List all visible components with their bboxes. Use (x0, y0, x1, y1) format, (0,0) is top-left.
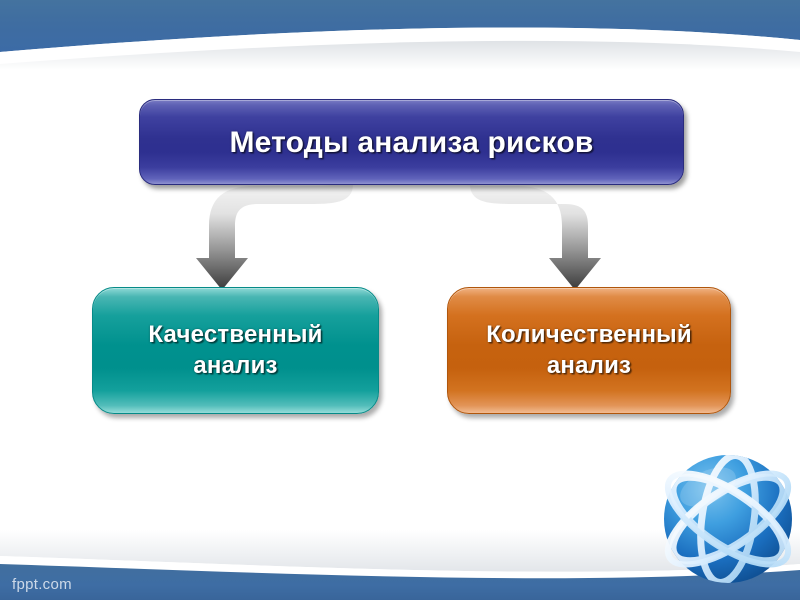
quantitative-node[interactable]: Количественный анализ (447, 287, 731, 414)
fppt-watermark: fppt.com (12, 576, 72, 593)
slide-canvas: Методы анализа рисков Качественный анали… (0, 0, 800, 600)
root-node[interactable]: Методы анализа рисков (139, 99, 684, 185)
qualitative-node-label: Качественный анализ (93, 320, 378, 381)
top-banner (0, 0, 800, 70)
connector-left (196, 184, 353, 290)
globe-icon (656, 447, 800, 597)
quantitative-node-label: Количественный анализ (448, 320, 730, 381)
root-node-label: Методы анализа рисков (219, 126, 603, 159)
connector-right (465, 184, 601, 290)
qualitative-node[interactable]: Качественный анализ (92, 287, 379, 414)
